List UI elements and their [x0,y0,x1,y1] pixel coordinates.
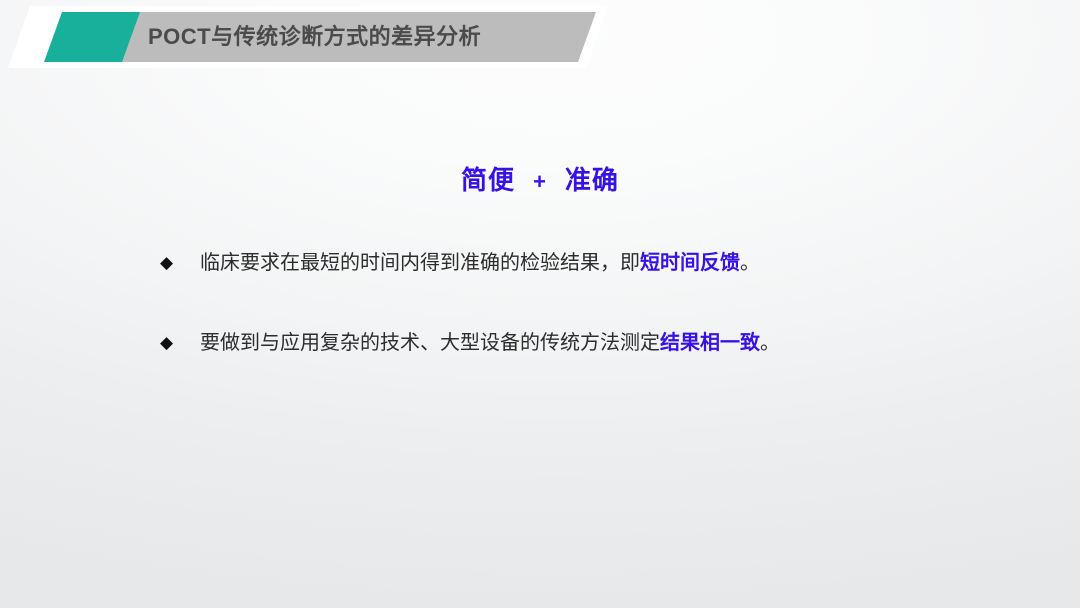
bullet-lead-text: 要做到与应用复杂的技术、大型设备的传统方法测定 [200,332,660,354]
bullet-lead-text: 临床要求在最短的时间内得到准确的检验结果，即 [200,252,640,274]
slide-canvas: POCT与传统诊断方式的差异分析 简便+准确 ◆ 临床要求在最短的时间内得到准确… [0,0,1080,608]
section-heading: 简便+准确 [0,160,1080,197]
heading-plus-operator: + [515,169,565,195]
heading-term-right: 准确 [565,160,619,197]
bullet-highlight-text: 结果相一致 [660,332,760,354]
diamond-bullet-icon: ◆ [160,328,200,358]
bullet-tail-text: 。 [740,252,760,274]
bullet-list: ◆ 临床要求在最短的时间内得到准确的检验结果，即短时间反馈。 ◆ 要做到与应用复… [160,248,1040,408]
diamond-bullet-icon: ◆ [160,248,200,278]
bullet-text: 要做到与应用复杂的技术、大型设备的传统方法测定结果相一致。 [200,328,1040,358]
page-title: POCT与传统诊断方式的差异分析 [148,6,481,68]
bullet-tail-text: 。 [760,332,780,354]
bullet-highlight-text: 短时间反馈 [640,252,740,274]
header-banner: POCT与传统诊断方式的差异分析 [0,6,620,68]
bullet-text: 临床要求在最短的时间内得到准确的检验结果，即短时间反馈。 [200,248,1040,278]
heading-term-left: 简便 [461,160,515,197]
list-item: ◆ 临床要求在最短的时间内得到准确的检验结果，即短时间反馈。 [160,248,1040,278]
list-item: ◆ 要做到与应用复杂的技术、大型设备的传统方法测定结果相一致。 [160,328,1040,358]
